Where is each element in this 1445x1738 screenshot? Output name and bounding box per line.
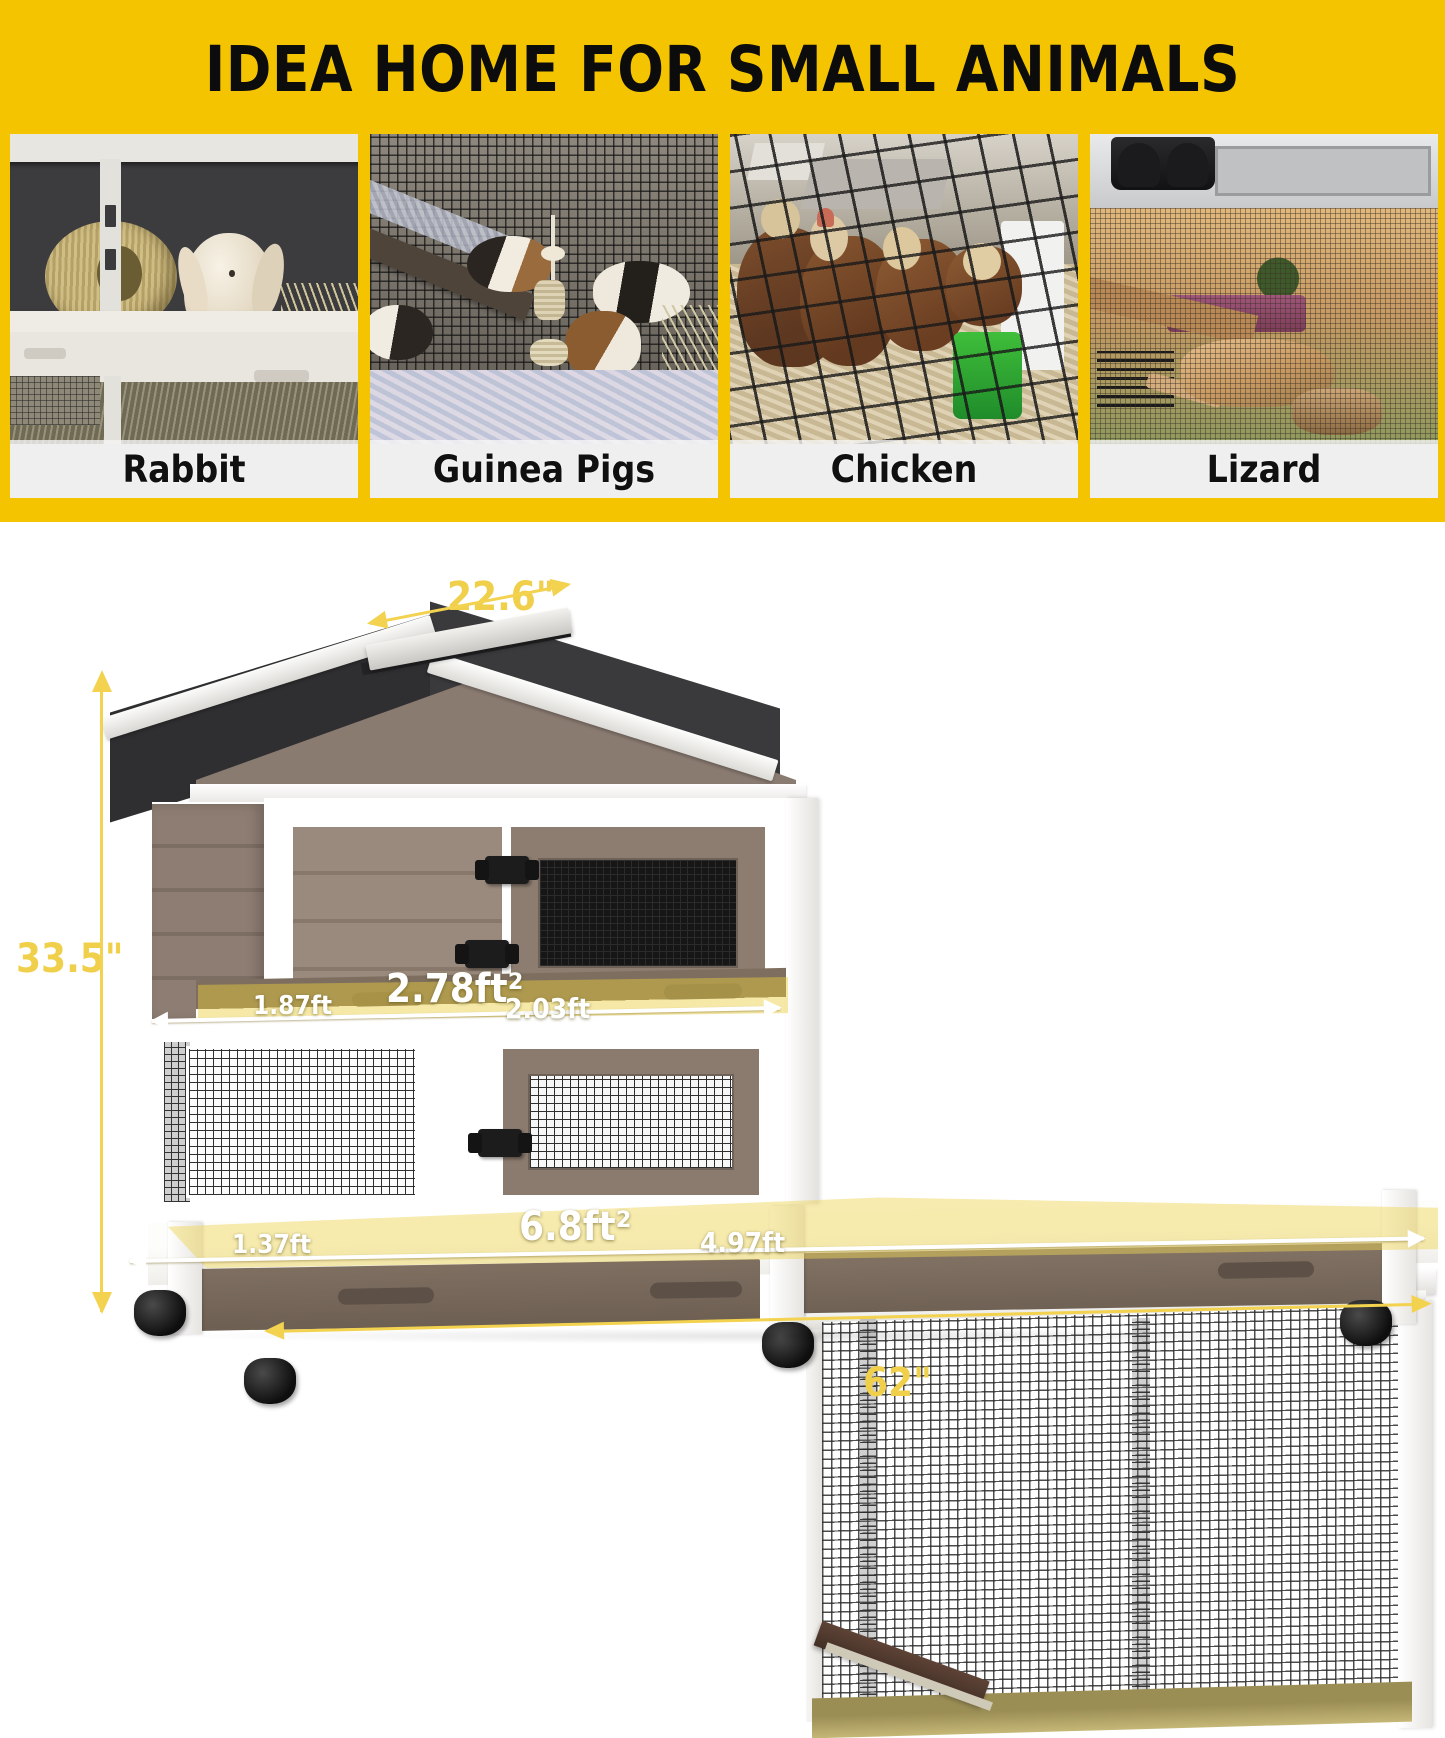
height-arrow-down-icon: [92, 1292, 112, 1314]
thumbnail-label-lizard: Lizard: [1090, 440, 1438, 498]
center-post: [786, 798, 818, 1204]
lizard-photo: [1090, 134, 1438, 444]
product-diagram: 22.6" 33.5" 62" 1.87ft 2.78ft² 2.03ft 1.…: [0, 522, 1445, 1411]
dimension-height: 33.5": [16, 936, 124, 982]
latch-icon-upper-top[interactable]: [485, 856, 529, 884]
tray-handle-3[interactable]: [1218, 1261, 1314, 1279]
chicken-photo: [730, 134, 1078, 444]
promo-banner: IDEA HOME FOR SMALL ANIMALS: [0, 0, 1445, 522]
hutch-illustration: [0, 522, 1445, 1411]
thumbnail-chicken[interactable]: Chicken: [730, 134, 1078, 498]
tray-handle-2[interactable]: [650, 1281, 742, 1299]
lower-mesh-door-left[interactable]: [186, 1046, 418, 1198]
thumbnail-guinea-pigs[interactable]: Guinea Pigs: [370, 134, 718, 498]
lower-area-label: 6.8ft²: [519, 1204, 631, 1250]
run-post-right: [1398, 1300, 1432, 1728]
caster-wheel-icon-2: [244, 1358, 296, 1404]
upper-area-label: 2.78ft²: [386, 966, 523, 1012]
latch-icon-upper-bottom[interactable]: [465, 940, 509, 968]
thumbnail-label-rabbit: Rabbit: [10, 440, 358, 498]
thumbnail-rabbit[interactable]: Rabbit: [10, 134, 358, 498]
rabbit-photo: [10, 134, 358, 444]
run-inner-post-right: [1132, 1318, 1150, 1709]
animal-thumbnail-row: Rabbit: [10, 134, 1438, 498]
thumbnail-label-chicken: Chicken: [730, 440, 1078, 498]
lower-door-mesh-panel: [528, 1074, 734, 1170]
upper-depth-label: 1.87ft: [253, 991, 332, 1021]
dimension-width: 62": [863, 1360, 932, 1406]
tray-handle-1[interactable]: [338, 1287, 434, 1305]
latch-icon-lower[interactable]: [478, 1129, 522, 1157]
thumbnail-lizard[interactable]: Lizard: [1090, 134, 1438, 498]
page-title: IDEA HOME FOR SMALL ANIMALS: [22, 34, 1424, 106]
lower-depth-label: 1.37ft: [232, 1230, 311, 1260]
lower-width-label: 4.97ft: [700, 1226, 785, 1259]
height-guide-line: [100, 682, 103, 1312]
upper-mesh-panel: [538, 858, 738, 968]
guinea-pigs-photo: [370, 134, 718, 444]
thumbnail-label-guinea-pigs: Guinea Pigs: [370, 440, 718, 498]
upper-width-label: 2.03ft: [505, 992, 590, 1025]
